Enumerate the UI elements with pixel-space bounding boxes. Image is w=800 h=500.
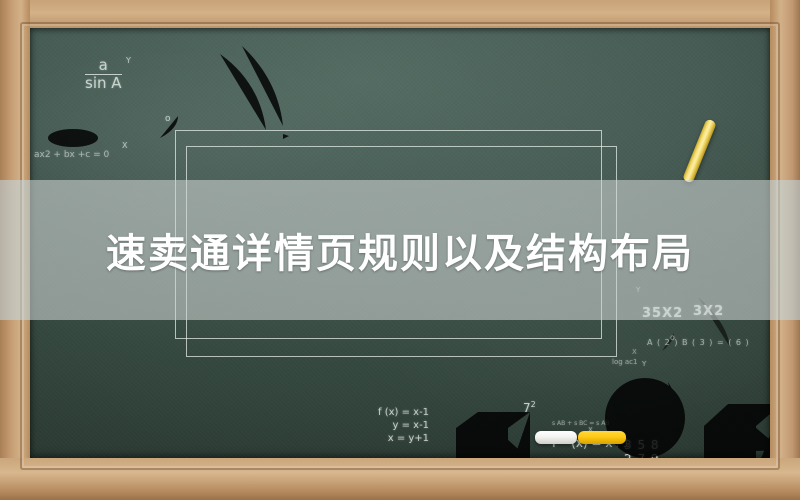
fn-line-2: y = x-1 bbox=[378, 419, 429, 432]
power-seven-base: 7 bbox=[523, 401, 531, 415]
white-chalk-piece bbox=[535, 431, 577, 444]
axis-y-label-topleft: Y bbox=[126, 56, 131, 65]
fraction-numerator: a bbox=[85, 58, 122, 74]
power-seven-exponent: 2 bbox=[531, 400, 536, 409]
chalkboard-banner: a sin A ax2 + bx +c = 0 Y X o bbox=[0, 0, 800, 500]
sine-rule-fraction-topleft: a sin A bbox=[85, 58, 122, 92]
axis-y-label-bottomright: Y bbox=[642, 360, 646, 368]
matrix-row-text: A ( 2 ) B ( 3 ) = ( 6 ) bbox=[647, 338, 750, 347]
axis-x-label-topright: X bbox=[632, 348, 637, 356]
power-seven-text: 72 bbox=[523, 400, 536, 415]
fn-line-3: x = y+1 bbox=[378, 432, 429, 445]
page-title: 速卖通详情页规则以及结构布局 bbox=[0, 180, 800, 320]
frame-bottom-rail bbox=[0, 458, 800, 500]
fraction-denominator: sin A bbox=[85, 74, 122, 92]
yellow-chalk-piece bbox=[578, 431, 626, 444]
axis-x-label-topleft: X bbox=[122, 141, 127, 150]
cube-drawing-right-icon bbox=[698, 396, 770, 458]
fn-line-1: f (x) = x-1 bbox=[378, 406, 429, 419]
angle-label-topleft: o bbox=[165, 114, 171, 124]
function-equations-block: f (x) = x-1 y = x-1 x = y+1 bbox=[378, 406, 429, 445]
quadratic-equation-text: ax2 + bx +c = 0 bbox=[34, 150, 109, 160]
